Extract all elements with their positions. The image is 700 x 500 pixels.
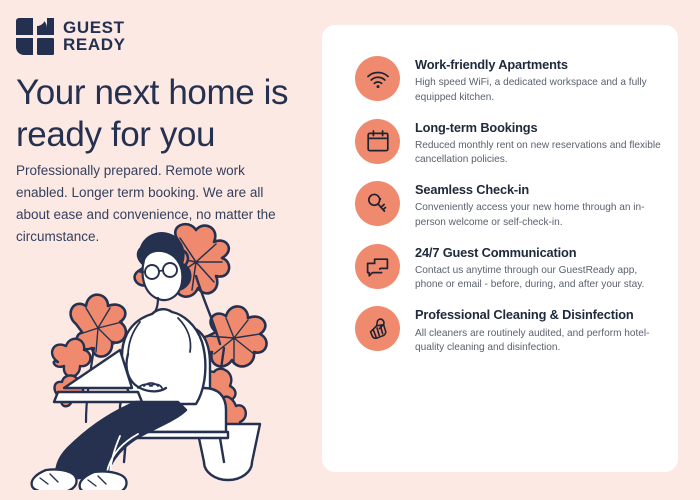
feature-text: Long-term Bookings Reduced monthly rent …	[415, 118, 661, 168]
promo-page: GUEST READY Your next home is ready for …	[0, 0, 700, 500]
feature-title: Professional Cleaning & Disinfection	[415, 307, 661, 323]
feature-title: Work-friendly Apartments	[415, 57, 661, 73]
feature-description: Contact us anytime through our GuestRead…	[415, 264, 661, 293]
feature-item-work-friendly-apartments[interactable]: Work-friendly Apartments High speed WiFi…	[355, 55, 661, 105]
brand-logo[interactable]: GUEST READY	[16, 18, 126, 55]
feature-description: Reduced monthly rent on new reservations…	[415, 139, 661, 168]
feature-item-long-term-bookings[interactable]: Long-term Bookings Reduced monthly rent …	[355, 118, 661, 168]
hero-illustration	[28, 222, 313, 490]
feature-description: All cleaners are routinely audited, and …	[415, 327, 661, 356]
logo-word-line2: READY	[63, 37, 126, 53]
logo-wordmark: GUEST READY	[63, 20, 126, 53]
feature-text: Work-friendly Apartments High speed WiFi…	[415, 55, 661, 105]
calendar-icon	[355, 119, 400, 164]
broom-icon	[355, 306, 400, 351]
feature-list: Work-friendly Apartments High speed WiFi…	[355, 55, 661, 368]
key-icon	[355, 181, 400, 226]
feature-item-seamless-check-in[interactable]: Seamless Check-in Conveniently access yo…	[355, 180, 661, 230]
feature-text: Seamless Check-in Conveniently access yo…	[415, 180, 661, 230]
wifi-icon	[355, 56, 400, 101]
guestready-logo-mark	[16, 18, 54, 55]
chat-bubbles-icon	[355, 244, 400, 289]
feature-title: Long-term Bookings	[415, 120, 661, 136]
feature-item-professional-cleaning[interactable]: Professional Cleaning & Disinfection All…	[355, 305, 661, 355]
feature-title: 24/7 Guest Communication	[415, 245, 661, 261]
feature-text: 24/7 Guest Communication Contact us anyt…	[415, 243, 661, 293]
page-title: Your next home is ready for you	[16, 72, 316, 156]
feature-description: High speed WiFi, a dedicated workspace a…	[415, 76, 661, 105]
features-card: Work-friendly Apartments High speed WiFi…	[322, 25, 678, 472]
feature-description: Conveniently access your new home throug…	[415, 201, 661, 230]
feature-text: Professional Cleaning & Disinfection All…	[415, 305, 661, 355]
feature-item-guest-communication[interactable]: 24/7 Guest Communication Contact us anyt…	[355, 243, 661, 293]
left-panel: GUEST READY Your next home is ready for …	[0, 0, 322, 500]
feature-title: Seamless Check-in	[415, 182, 661, 198]
